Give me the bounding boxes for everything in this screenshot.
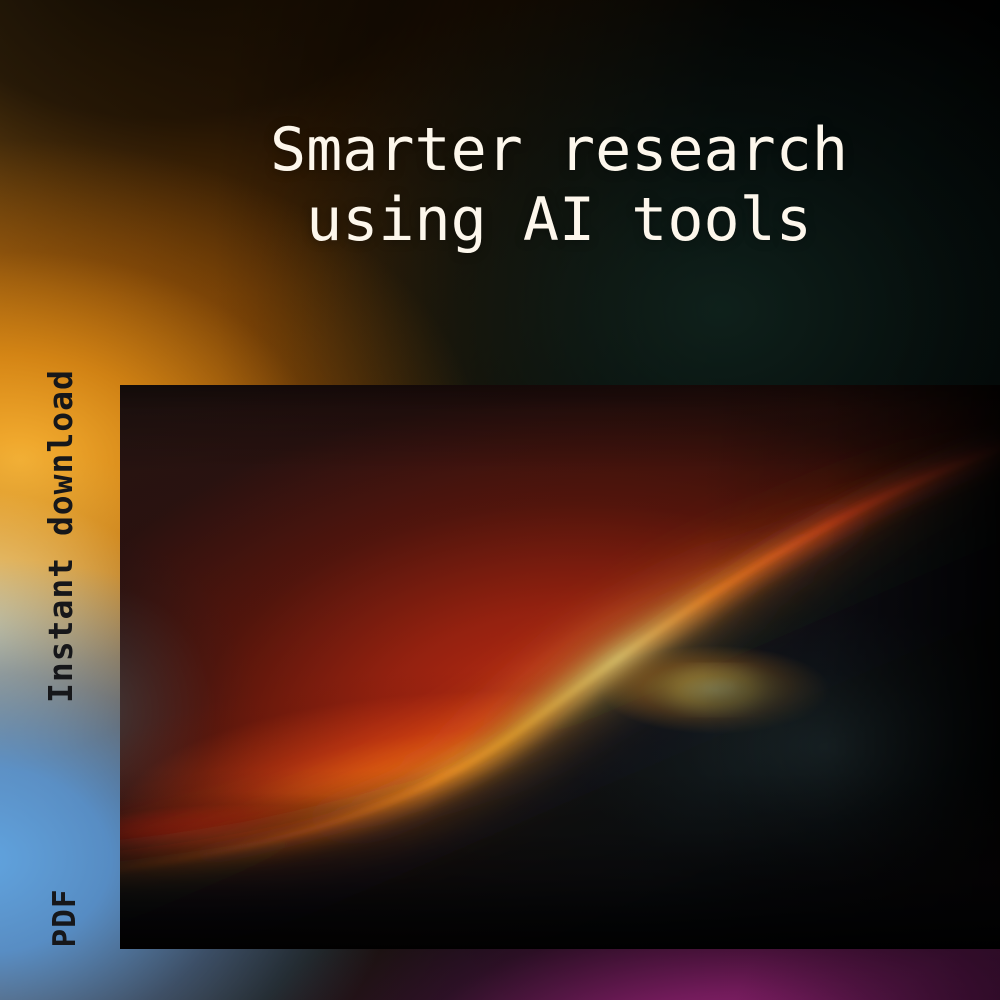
page-title: Smarter research using AI tools <box>0 120 1000 250</box>
artwork-hotspot-core <box>704 681 736 695</box>
side-label-instant-download: Instant download <box>39 373 83 703</box>
page-title-line-1: Smarter research <box>118 120 1000 180</box>
page-title-line-2: using AI tools <box>118 190 1000 250</box>
poster-canvas: Smarter research using AI tools Instant … <box>0 0 1000 1000</box>
artwork-light-ridge <box>120 385 1000 949</box>
artwork-image <box>120 385 1000 949</box>
side-label-pdf: PDF <box>43 863 87 973</box>
